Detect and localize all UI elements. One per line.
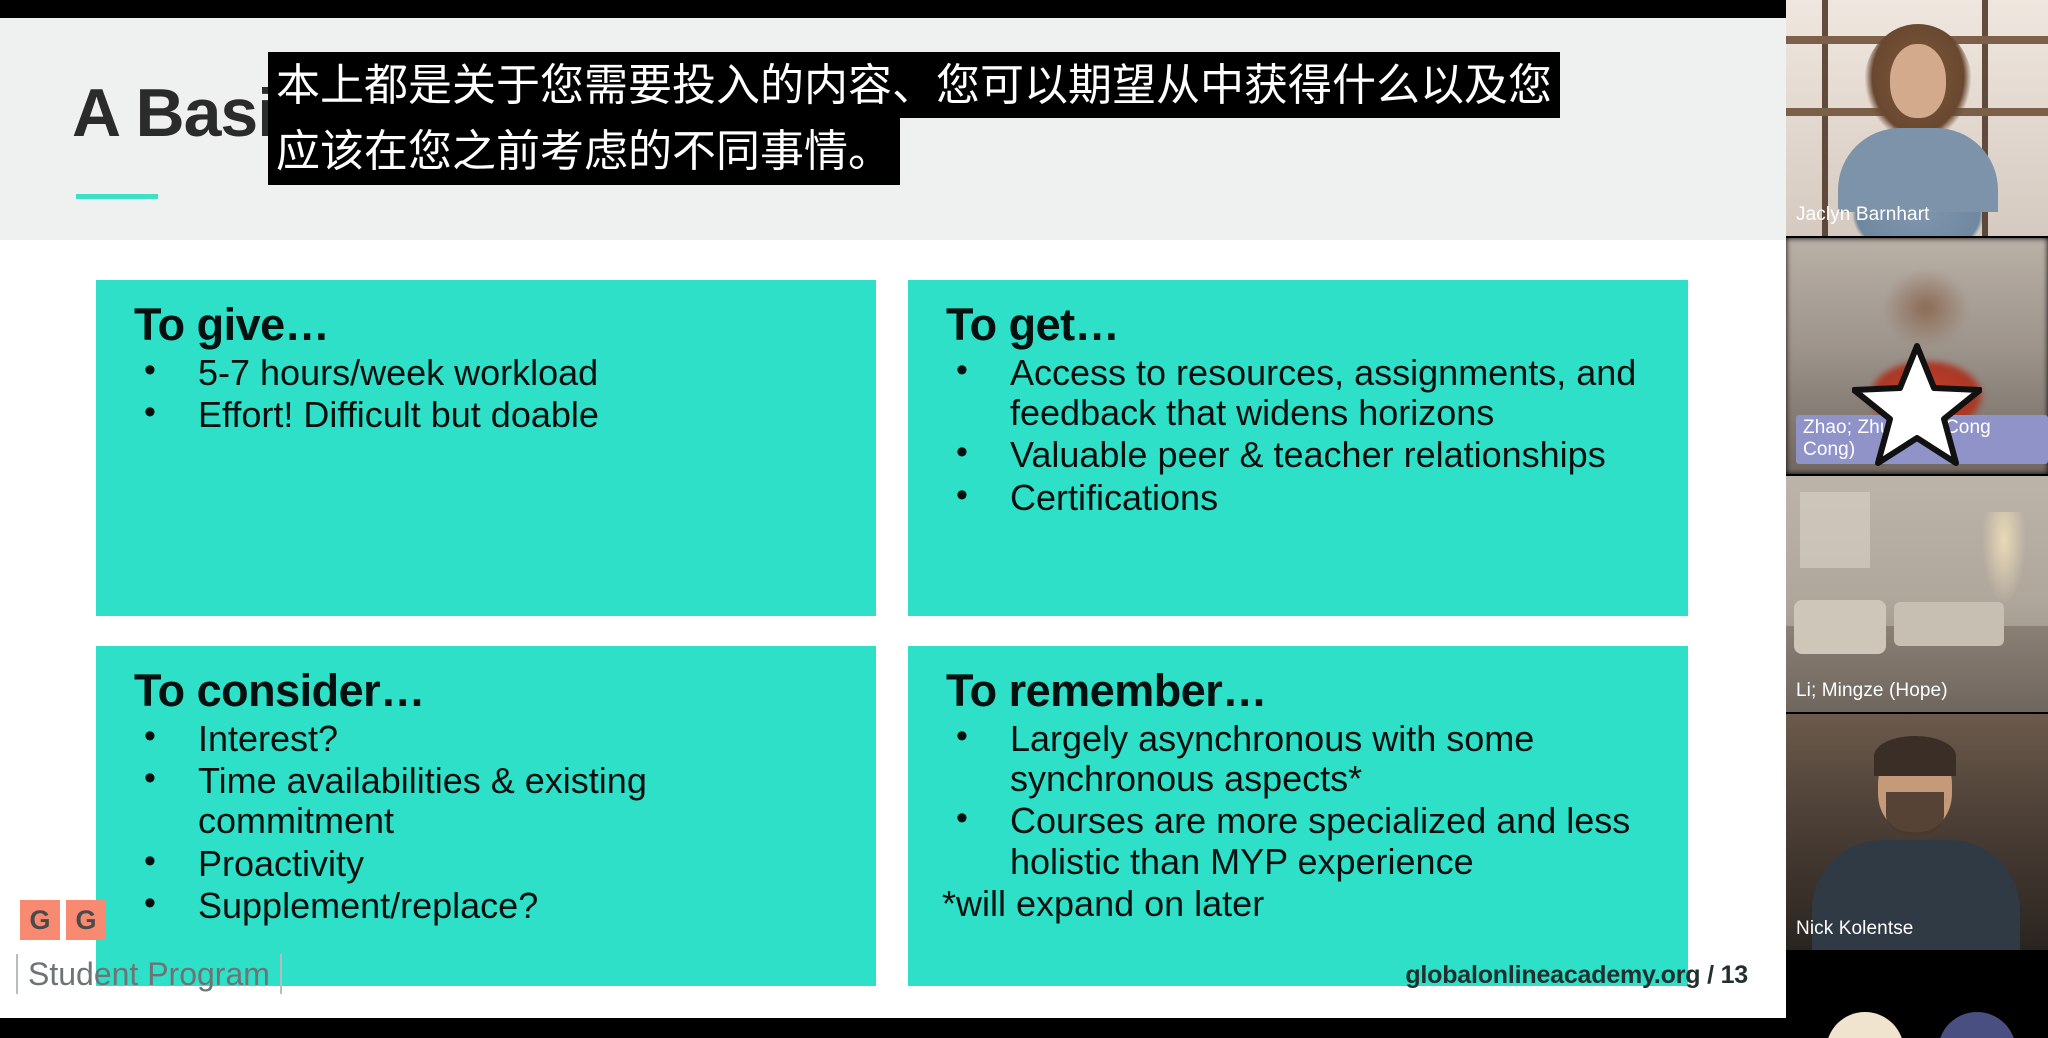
footer-site-text: globalonlineacademy.org: [1405, 961, 1700, 989]
list-item: Access to resources, assignments, and fe…: [942, 353, 1662, 434]
video-feed: [1786, 476, 2048, 712]
list-item: Proactivity: [130, 844, 850, 884]
live-caption-overlay: 本上都是关于您需要投入的内容、您可以期望从中获得什么以及您 应该在您之前考虑的不…: [268, 52, 1508, 185]
decor-window: [1800, 492, 1870, 568]
card-to-give: To give… 5-7 hours/week workload Effort!…: [96, 280, 876, 616]
logo-square-g2: G: [66, 900, 106, 940]
list-item: Time availabilities & existing commitmen…: [130, 761, 850, 842]
list-item: Interest?: [130, 719, 850, 759]
card-to-remember: To remember… Largely asynchronous with s…: [908, 646, 1688, 986]
video-tile-zhao-zhuohua[interactable]: Zhao; Zhuohua (Cong Cong): [1786, 238, 2048, 474]
decor-table: [1894, 602, 2004, 646]
card-title: To give…: [134, 302, 850, 349]
card-to-consider: To consider… Interest? Time availabiliti…: [96, 646, 876, 986]
list-item: Courses are more specialized and less ho…: [942, 801, 1662, 882]
decor-torso: [1838, 128, 1998, 212]
card-footnote: *will expand on later: [942, 884, 1662, 924]
decor-sofa: [1794, 600, 1886, 654]
shared-screen-stage[interactable]: A Basic Summary To give… 5-7 hours/week …: [0, 0, 1786, 1038]
letterbox-bottom: [0, 1018, 1786, 1038]
logo-square-g1: G: [20, 900, 60, 940]
video-tile-jaclyn-barnhart[interactable]: Jaclyn Barnhart: [1786, 0, 2048, 236]
list-item: Supplement/replace?: [130, 886, 850, 926]
list-item: Largely asynchronous with some synchrono…: [942, 719, 1662, 800]
card-bullet-list: Interest? Time availabilities & existing…: [130, 719, 850, 927]
card-bullet-list: Largely asynchronous with some synchrono…: [942, 719, 1662, 882]
meeting-window: A Basic Summary To give… 5-7 hours/week …: [0, 0, 2048, 1038]
participant-name: Nick Kolentse: [1796, 918, 1913, 940]
video-tile-nick-kolentse[interactable]: Nick Kolentse: [1786, 714, 2048, 950]
decor-face: [1890, 44, 1946, 118]
list-item: Effort! Difficult but doable: [130, 395, 850, 435]
video-feed: [1786, 714, 2048, 950]
footer-separator: /: [1707, 961, 1714, 989]
avatar-initials[interactable]: LM: [1826, 1012, 1904, 1038]
participant-name: Jaclyn Barnhart: [1796, 204, 1930, 226]
video-tile-li-mingze[interactable]: Li; Mingze (Hope): [1786, 476, 2048, 712]
decor-hair: [1874, 736, 1956, 776]
list-item: Certifications: [942, 478, 1662, 518]
card-title: To get…: [946, 302, 1662, 349]
program-label: Student Program: [16, 954, 282, 994]
card-title: To remember…: [946, 668, 1662, 715]
caption-line-1: 本上都是关于您需要投入的内容、您可以期望从中获得什么以及您: [268, 52, 1560, 118]
slide-footer: globalonlineacademy.org / 13: [1405, 961, 1748, 990]
star-icon: [1852, 342, 1982, 471]
avatar-overflow-count[interactable]: +20: [1938, 1012, 2016, 1038]
letterbox-top: [0, 0, 1786, 18]
caption-line-2: 应该在您之前考虑的不同事情。: [268, 118, 900, 184]
decor-lamp: [1982, 512, 2026, 604]
participant-avatars-row[interactable]: LM +20: [1786, 952, 2048, 1038]
participant-filmstrip[interactable]: Jaclyn Barnhart Zhao; Zhuohua (Cong Cong…: [1786, 0, 2048, 1038]
video-feed: [1786, 0, 2048, 236]
card-to-get: To get… Access to resources, assignments…: [908, 280, 1688, 616]
decor-beard: [1886, 792, 1944, 836]
list-item: 5-7 hours/week workload: [130, 353, 850, 393]
card-bullet-list: Access to resources, assignments, and fe…: [942, 353, 1662, 518]
goa-logo: G G: [20, 900, 106, 940]
slide-page-number: 13: [1721, 961, 1748, 989]
list-item: Valuable peer & teacher relationships: [942, 435, 1662, 475]
title-underline-rule: [76, 194, 158, 199]
card-title: To consider…: [134, 668, 850, 715]
card-bullet-list: 5-7 hours/week workload Effort! Difficul…: [130, 353, 850, 436]
participant-name: Li; Mingze (Hope): [1796, 680, 1948, 702]
